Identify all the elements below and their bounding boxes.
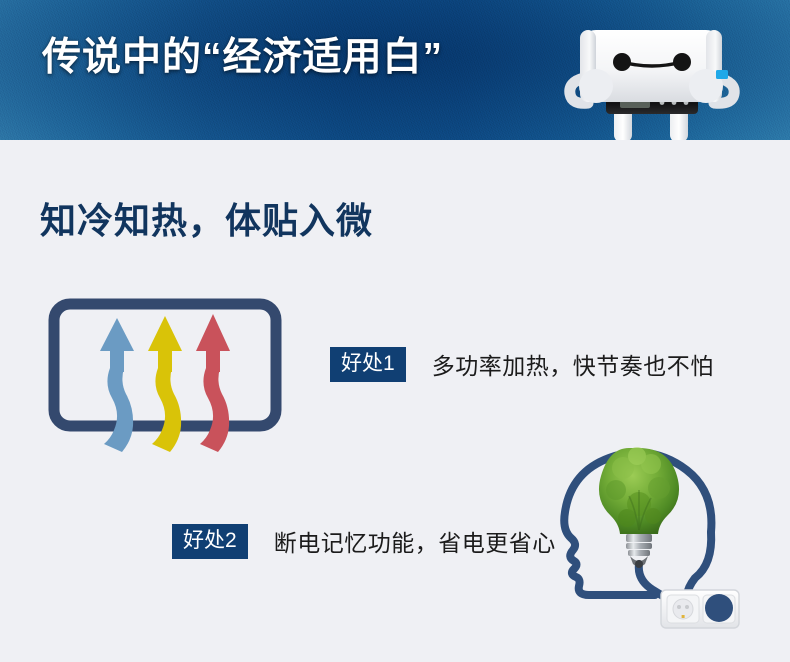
benefit-row-1: 好处1 多功率加热，快节奏也不怕 [330,347,714,382]
benefit-badge-1: 好处1 [330,347,406,382]
product-feature-page: 传说中的“经济适用白” [0,0,790,662]
benefit-text-1: 多功率加热，快节奏也不怕 [432,347,714,381]
section-heading: 知冷知热，体贴入微 [40,192,373,244]
head-with-green-bulb-icon [523,412,755,632]
header-banner: 传说中的“经济适用白” [0,0,790,140]
benefit-badge-2: 好处2 [172,524,248,559]
water-heater-mascot-icon [558,14,783,140]
banner-title: 传说中的“经济适用白” [42,34,443,83]
rising-heat-arrows-icon [48,298,308,498]
benefit-row-2: 好处2 断电记忆功能，省电更省心 [172,524,556,559]
benefit-text-2: 断电记忆功能，省电更省心 [274,524,556,558]
